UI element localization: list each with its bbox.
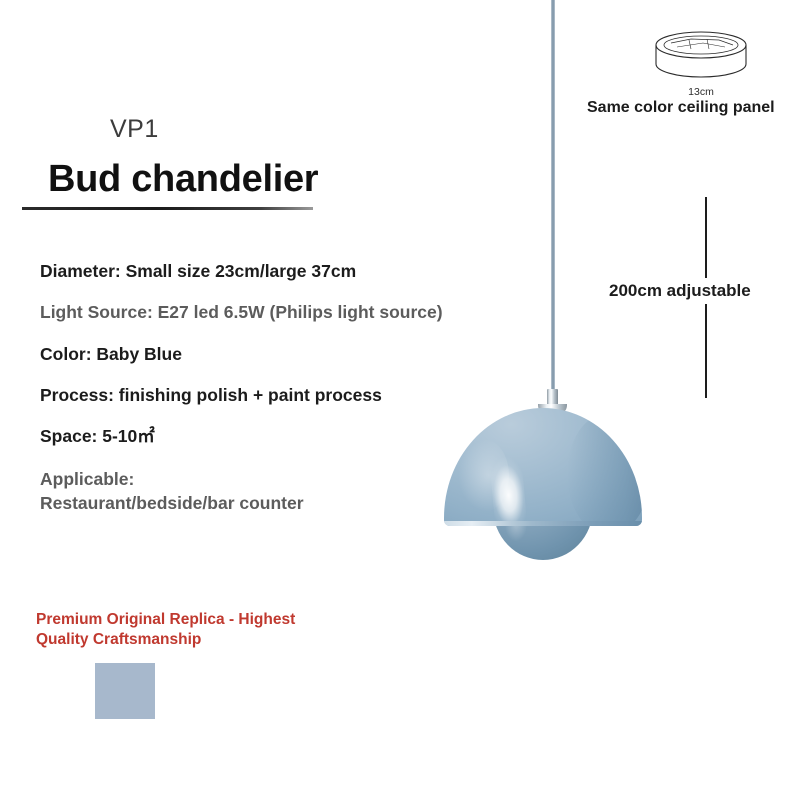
spec-light-source: Light Source: E27 led 6.5W (Philips ligh… xyxy=(40,303,510,322)
spec-process: Process: finishing polish + paint proces… xyxy=(40,386,510,405)
drop-length-label: 200cm adjustable xyxy=(607,278,753,304)
color-swatch xyxy=(95,663,155,719)
ceiling-panel-dimension-label: 13cm xyxy=(640,86,762,98)
specification-list: Diameter: Small size 23cm/large 37cm Lig… xyxy=(40,262,510,516)
title-underline xyxy=(22,207,313,210)
spec-applicable: Applicable: Restaurant/bedside/bar count… xyxy=(40,468,510,515)
page-title: Bud chandelier xyxy=(48,158,318,201)
promo-text: Premium Original Replica - Highest Quali… xyxy=(36,610,376,651)
ceiling-panel-dimension: 13cm xyxy=(640,86,762,100)
spec-space: Space: 5-10㎡ xyxy=(40,427,510,446)
spec-diameter: Diameter: Small size 23cm/large 37cm xyxy=(40,262,510,281)
suspension-cord xyxy=(551,0,555,400)
ceiling-panel-illustration xyxy=(645,28,757,90)
ceiling-panel-caption: Same color ceiling panel xyxy=(587,99,775,117)
spec-color: Color: Baby Blue xyxy=(40,345,510,364)
dome-rim xyxy=(444,521,642,526)
product-model-label: VP1 xyxy=(110,115,159,144)
